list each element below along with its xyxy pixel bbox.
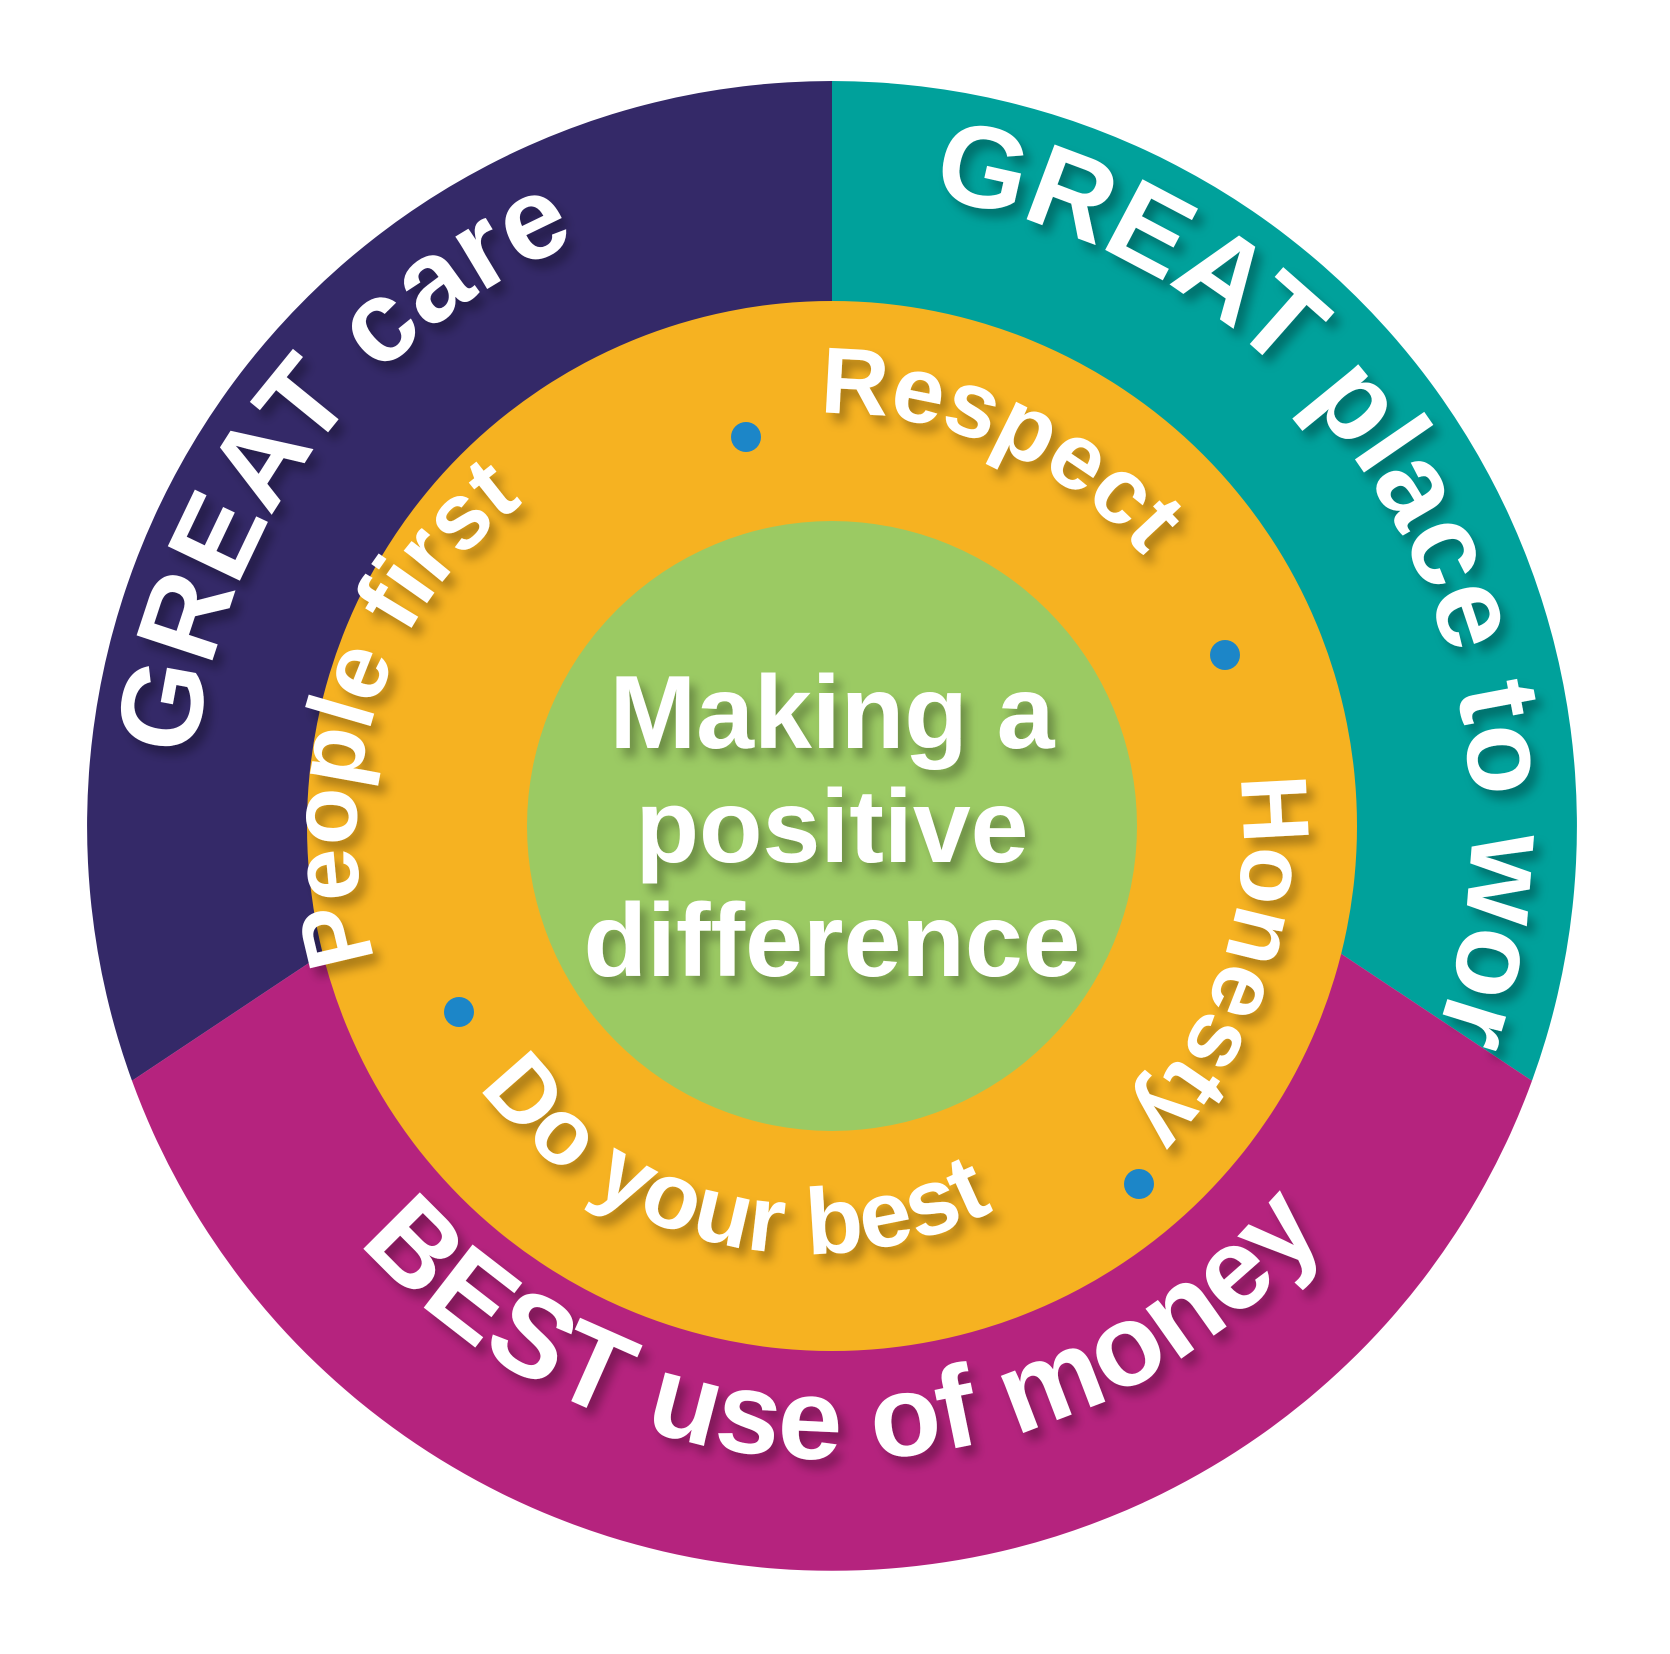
center-text-line-1: Making a (610, 655, 1056, 771)
center-text-line-3: difference (583, 883, 1080, 999)
separator-dot-3 (1124, 1169, 1154, 1199)
values-wheel-svg: GREAT care GREAT place to work BEST use … (0, 0, 1670, 1654)
center-text-line-2: positive (636, 769, 1029, 885)
separator-dot-1 (731, 422, 761, 452)
center-text-group: Making a positive difference (583, 655, 1080, 999)
values-wheel-container: GREAT care GREAT place to work BEST use … (0, 0, 1670, 1654)
separator-dot-4 (444, 997, 474, 1027)
separator-dot-2 (1210, 640, 1240, 670)
